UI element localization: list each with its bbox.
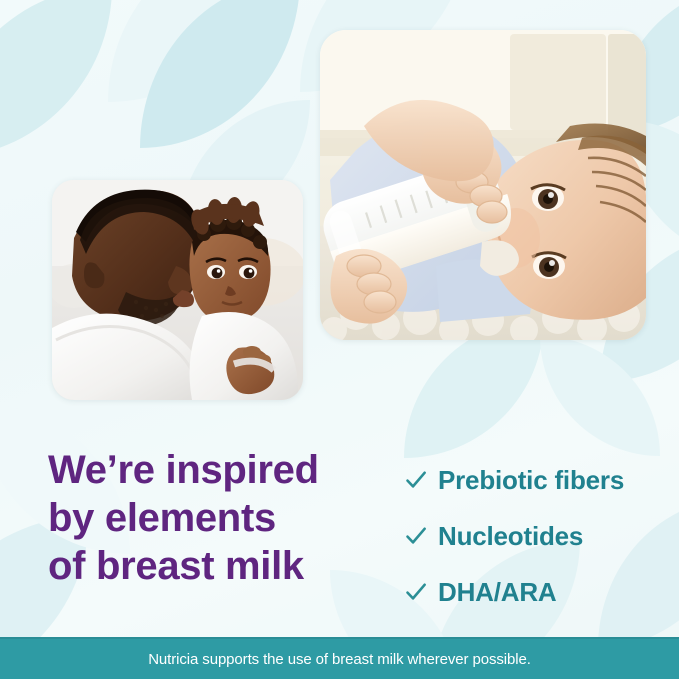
footer-bar: Nutricia supports the use of breast milk… bbox=[0, 637, 679, 679]
leaf-shape bbox=[108, 0, 278, 102]
leaf-shape bbox=[540, 336, 660, 456]
headline-line-2: by elements bbox=[48, 494, 398, 542]
benefit-item-dha-ara: DHA/ARA bbox=[404, 567, 666, 617]
check-icon bbox=[404, 468, 438, 492]
check-icon bbox=[404, 524, 438, 548]
benefit-label: Nucleotides bbox=[438, 521, 583, 552]
benefit-item-nucleotides: Nucleotides bbox=[404, 511, 666, 561]
check-icon bbox=[404, 580, 438, 604]
benefit-label: Prebiotic fibers bbox=[438, 465, 624, 496]
promo-banner: We’re inspired by elements of breast mil… bbox=[0, 0, 679, 679]
photo-father-kissing-baby bbox=[52, 180, 303, 400]
footer-disclaimer-text: Nutricia supports the use of breast milk… bbox=[148, 651, 531, 668]
benefit-item-prebiotic-fibers: Prebiotic fibers bbox=[404, 455, 666, 505]
leaf-shape bbox=[0, 0, 112, 158]
headline: We’re inspired by elements of breast mil… bbox=[48, 446, 398, 590]
benefits-list: Prebiotic fibers Nucleotides DHA/ARA bbox=[404, 455, 666, 623]
headline-line-3: of breast milk bbox=[48, 542, 398, 590]
photo-baby-with-bottle bbox=[320, 30, 646, 340]
benefit-label: DHA/ARA bbox=[438, 577, 556, 608]
leaf-shape bbox=[140, 0, 300, 148]
headline-line-1: We’re inspired bbox=[48, 446, 398, 494]
